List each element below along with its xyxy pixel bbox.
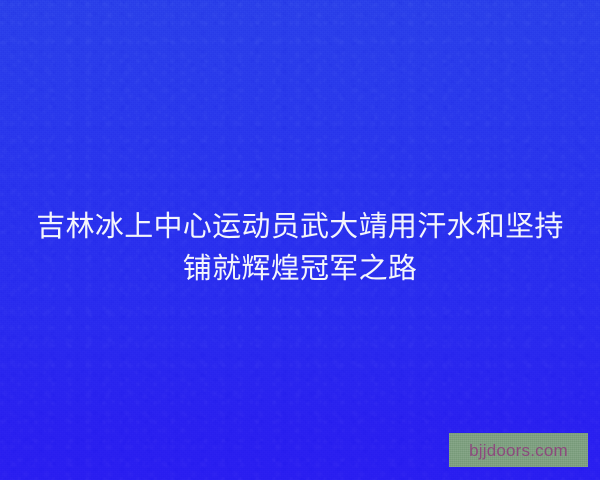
watermark-label: bjjdoors.com (469, 442, 568, 459)
headline-text: 吉林冰上中心运动员武大靖用汗水和坚持 铺就辉煌冠军之路 (0, 206, 600, 290)
image-canvas: 吉林冰上中心运动员武大靖用汗水和坚持 铺就辉煌冠军之路 bjjdoors.com (0, 0, 600, 480)
watermark-badge: bjjdoors.com (449, 433, 588, 467)
